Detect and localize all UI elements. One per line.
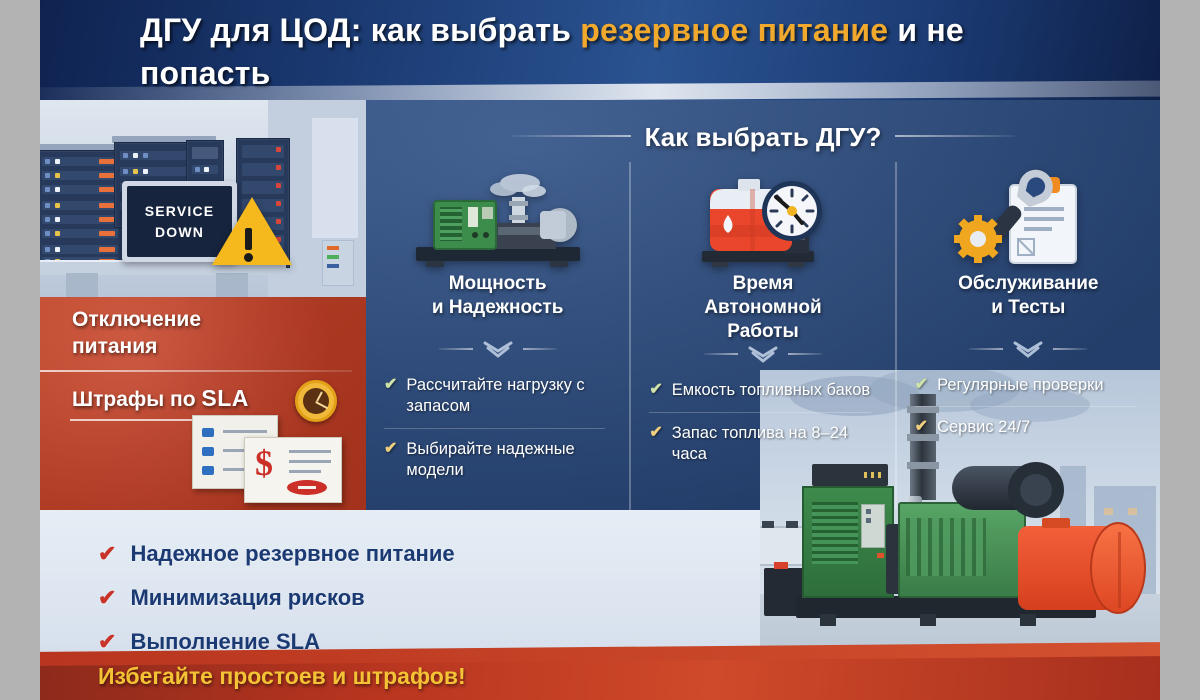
fuel-tank-end-cap (1090, 522, 1146, 614)
sla-penalty-title: Штрафы по SLA (72, 385, 249, 412)
desk-leg (66, 273, 98, 300)
wall-control-box (322, 240, 354, 286)
column2-title-line2: Автономной (704, 297, 821, 318)
outage-title-line2: питания (72, 335, 157, 358)
benefit-item: ✔Минимизация рисков (98, 576, 455, 620)
bullet-item: ✔Выбирайте надежные модели (384, 432, 611, 489)
column1-title-line1: Мощность (449, 273, 547, 294)
warning-exclamation-bar (245, 228, 252, 250)
wrench-gear-checklist-icon (911, 162, 1146, 272)
column-maintenance-tests: Обслуживание и Тесты ✔Регулярные проверк… (895, 162, 1160, 510)
footer-banner-text: Избегайте простоев и штрафов! (98, 663, 466, 690)
bullet-text: Емкость топливных баков (672, 380, 870, 401)
divider (649, 412, 870, 413)
check-icon: ✔ (649, 380, 662, 400)
check-icon: ✔ (384, 439, 397, 459)
title-highlight: резервное питание (580, 12, 888, 48)
title-part-2: как выбрать (362, 12, 581, 48)
sla-penalty-text: Штрафы по (72, 388, 201, 411)
chevron-down-icon (645, 345, 880, 363)
criteria-columns: Мощность и Надежность ✔Рассчитайте нагру… (366, 162, 1160, 510)
column3-bullets: ✔Регулярные проверки ✔Сервис 24/7 (911, 368, 1146, 446)
column3-title-line2: и Тесты (991, 297, 1065, 318)
wall-panel-light (312, 118, 358, 238)
benefit-text: Минимизация рисков (130, 585, 364, 611)
benefit-text: Надежное резервное питание (130, 541, 454, 567)
poster-header: ДГУ для ЦОД: как выбрать резервное питан… (40, 0, 1160, 100)
title-part-1: ДГУ для ЦОД: (140, 12, 362, 48)
column-title: Время Автономной Работы (645, 272, 880, 343)
stamp-icon (287, 480, 327, 495)
check-icon: ✔ (915, 417, 928, 437)
service-down-line1: SERVICE (145, 201, 215, 221)
check-icon: ✔ (384, 375, 397, 395)
power-outage-panel: Отключение питания Штрафы по SLA $ (40, 297, 366, 510)
bullet-text: Рассчитайте нагрузку с запасом (406, 375, 611, 418)
column3-title-line1: Обслуживание (958, 273, 1098, 294)
server-rack (40, 150, 124, 272)
service-down-line2: DOWN (155, 222, 204, 242)
status-led (877, 553, 884, 558)
desk-leg (216, 273, 248, 300)
server-room-illustration: SERVICE DOWN (40, 100, 366, 300)
column1-bullets: ✔Рассчитайте нагрузку с запасом ✔Выбирай… (380, 368, 615, 489)
benefit-item: ✔Надежное резервное питание (98, 532, 455, 576)
page-title: ДГУ для ЦОД: как выбрать резервное питан… (140, 9, 1100, 100)
bullet-text: Регулярные проверки (937, 375, 1104, 396)
outage-title-line1: Отключение (72, 308, 201, 331)
column2-title-line1: Время (733, 273, 794, 294)
chevron-down-icon (380, 340, 615, 358)
column1-title-line2: и Надежность (432, 297, 563, 318)
louvre-vent (812, 502, 858, 564)
diesel-generator-icon (380, 162, 615, 272)
card-heading: Как выбрать ДГУ? (366, 122, 1160, 153)
divider (70, 419, 192, 421)
bullet-item: ✔Регулярные проверки (915, 368, 1142, 403)
bullet-text: Сервис 24/7 (937, 417, 1030, 438)
check-icon: ✔ (98, 585, 116, 611)
how-to-choose-card: Как выбрать ДГУ? (366, 100, 1160, 510)
column-title: Мощность и Надежность (380, 272, 615, 338)
column2-bullets: ✔Емкость топливных баков ✔Запас топлива … (645, 373, 880, 472)
tank-fill-cap (1042, 518, 1070, 528)
check-icon: ✔ (649, 423, 662, 443)
bullet-text: Выбирайте надежные модели (406, 439, 611, 482)
divider (384, 428, 605, 429)
card-heading-text: Как выбрать ДГУ? (645, 122, 882, 152)
column-autonomy-time: Время Автономной Работы ✔Емкость топливн… (629, 162, 894, 510)
infographic-poster: ДГУ для ЦОД: как выбрать резервное питан… (40, 0, 1160, 700)
poster-stage: ДГУ для ЦОД: как выбрать резервное питан… (0, 0, 1200, 700)
column2-title-line3: Работы (727, 321, 798, 342)
benefits-list: ✔Надежное резервное питание ✔Минимизация… (98, 532, 455, 664)
heading-rule-left (511, 135, 631, 137)
sla-penalty-sla: SLA (201, 385, 249, 411)
dollar-sign: $ (255, 445, 273, 481)
bullet-item: ✔Емкость топливных баков (649, 373, 876, 408)
bullet-item: ✔Рассчитайте нагрузку с запасом (384, 368, 611, 425)
bullet-item: ✔Запас топлива на 8–24 часа (649, 416, 876, 473)
divider (915, 406, 1136, 407)
clock-icon (295, 380, 337, 422)
invoice-document: $ (244, 437, 342, 503)
invoice-dollar-icon: $ (192, 415, 342, 503)
chevron-down-icon (911, 340, 1146, 358)
check-icon: ✔ (915, 375, 928, 395)
warning-exclamation-dot (244, 253, 253, 262)
heading-rule-right (895, 135, 1015, 137)
power-outage-title: Отключение питания (72, 307, 201, 361)
fuel-tank-clock-icon (645, 162, 880, 272)
column-title: Обслуживание и Тесты (911, 272, 1146, 338)
footer-banner: Избегайте простоев и штрафов! (40, 655, 1160, 700)
control-panel (861, 504, 885, 548)
engine-block (898, 502, 1026, 598)
divider (40, 370, 352, 372)
bullet-text: Запас топлива на 8–24 часа (672, 423, 877, 466)
column-power-reliability: Мощность и Надежность ✔Рассчитайте нагру… (366, 162, 629, 510)
bullet-item: ✔Сервис 24/7 (915, 410, 1142, 445)
check-icon: ✔ (98, 541, 116, 567)
